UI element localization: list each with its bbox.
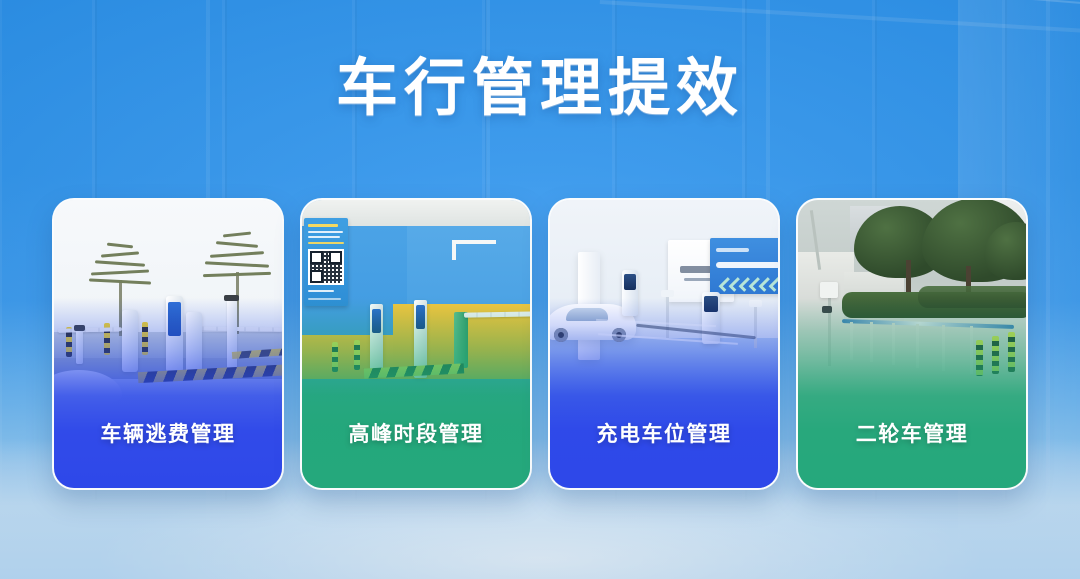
feature-card-list: 车辆逃费管理 (52, 198, 1030, 486)
card-label-2: 高峰时段管理 (302, 418, 530, 448)
card-label-4: 二轮车管理 (798, 418, 1026, 448)
feature-card-ev-charging[interactable]: 充电车位管理 (548, 198, 780, 490)
feature-card-vehicle-toll-evasion[interactable]: 车辆逃费管理 (52, 198, 284, 490)
slide-stage: 车行管理提效 (0, 0, 1080, 579)
card-label-3: 充电车位管理 (550, 418, 778, 448)
card-label-1: 车辆逃费管理 (54, 418, 282, 448)
feature-card-two-wheeler[interactable]: 二轮车管理 (796, 198, 1028, 490)
page-title: 车行管理提效 (0, 58, 1080, 120)
feature-card-peak-hour[interactable]: 高峰时段管理 (300, 198, 532, 490)
